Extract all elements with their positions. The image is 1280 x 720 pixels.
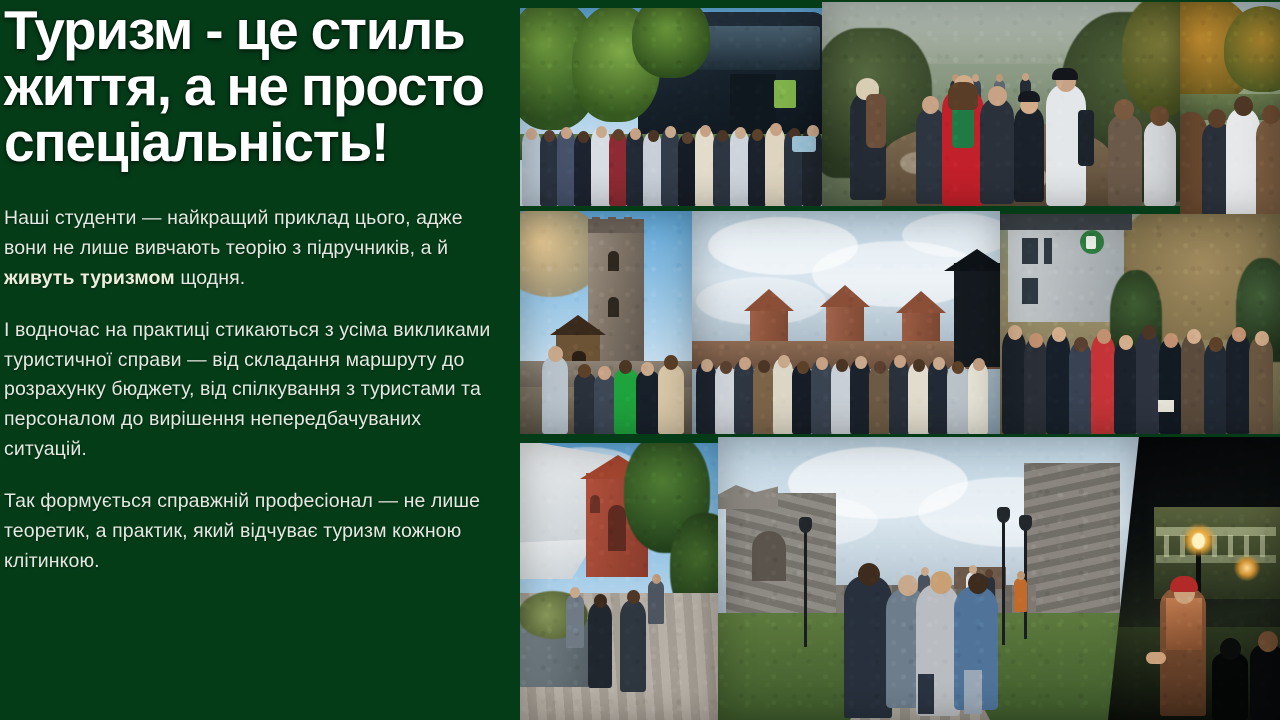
paragraph-3: Так формується справжній професіонал — н… — [4, 487, 498, 576]
group-by-bus-photo — [520, 8, 822, 206]
paragraph-2: І водночас на практиці стикаються з усім… — [4, 316, 498, 464]
old-town-street-photo — [520, 443, 718, 720]
hikers-on-trail-photo — [822, 2, 1180, 206]
slide-title: Туризм - це стиль життя, а не просто спе… — [4, 2, 498, 170]
paragraph-1-accent: живуть туризмом — [4, 267, 175, 289]
castle-ruins-walk-photo — [718, 437, 1140, 720]
photo-collage — [520, 0, 1280, 720]
paragraph-1: Наші студенти — найкращий приклад цього,… — [4, 204, 498, 293]
students-in-park-photo — [1180, 2, 1280, 218]
castle-tower-photo — [520, 211, 692, 434]
group-at-wooden-gates-photo — [692, 211, 1000, 434]
body-copy: Наші студенти — найкращий приклад цього,… — [4, 204, 498, 576]
paragraph-1-text-before: Наші студенти — найкращий приклад цього,… — [4, 207, 463, 259]
text-pane: Туризм - це стиль життя, а не просто спе… — [0, 0, 520, 720]
paragraph-1-text-after: щодня. — [175, 267, 245, 289]
presentation-slide: Туризм - це стиль життя, а не просто спе… — [0, 0, 1280, 720]
group-at-mountain-hotel-photo — [1000, 214, 1280, 434]
